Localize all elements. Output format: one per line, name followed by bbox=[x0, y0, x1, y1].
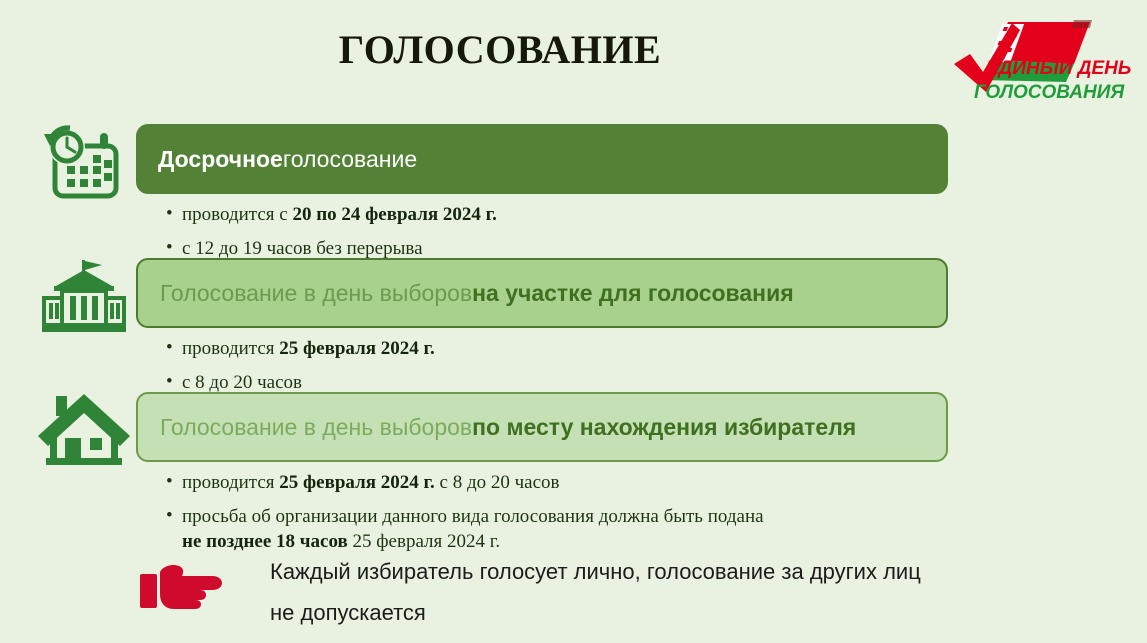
list-item: проводится 25 февраля 2024 г. bbox=[166, 336, 1066, 362]
bar-polling-station: Голосование в день выборов на участке дл… bbox=[136, 258, 948, 328]
bullet-text: проводится bbox=[182, 338, 279, 359]
bullet-text: с 8 до 20 часов bbox=[182, 372, 302, 393]
bullet-text: проводится с bbox=[182, 204, 292, 225]
pointing-hand-icon bbox=[138, 558, 238, 616]
bottom-note-text: Каждый избиратель голосует лично, голосо… bbox=[270, 552, 1070, 633]
bar-home-voting: Голосование в день выборов по месту нахо… bbox=[136, 392, 948, 462]
bullet-bold: 25 февраля 2024 г. bbox=[279, 338, 435, 359]
bar-polling-station-plain: Голосование в день выборов bbox=[160, 280, 472, 306]
edinyy-den-golosovaniya-logo: ЕДИНЫЙ ДЕНЬ ГОЛОСОВАНИЯ bbox=[950, 8, 1140, 108]
list-item: просьба об организации данного вида голо… bbox=[166, 504, 1066, 555]
bullet-text: просьба об организации данного вида голо… bbox=[182, 506, 764, 527]
bullet-tail: с 8 до 20 часов bbox=[435, 472, 560, 493]
house-icon bbox=[38, 392, 134, 470]
bar-early-voting: Досрочное голосование bbox=[136, 124, 948, 194]
bullet-bold: 25 февраля 2024 г. bbox=[279, 472, 435, 493]
bottom-note-line1: Каждый избиратель голосует лично, голосо… bbox=[270, 559, 921, 584]
bar-early-voting-plain: голосование bbox=[283, 146, 417, 172]
list-item: проводится 25 февраля 2024 г. с 8 до 20 … bbox=[166, 470, 1066, 496]
bar-home-voting-bold: по месту нахождения избирателя bbox=[472, 414, 856, 440]
list-item: проводится с 20 по 24 февраля 2024 г. bbox=[166, 202, 1066, 228]
bar-early-voting-bold: Досрочное bbox=[158, 146, 283, 172]
bullet-tail: 25 февраля 2024 г. bbox=[348, 531, 500, 552]
logo-line1: ЕДИНЫЙ ДЕНЬ bbox=[986, 57, 1131, 79]
bottom-note-line2: не допускается bbox=[270, 593, 1070, 634]
bar-home-voting-plain: Голосование в день выборов bbox=[160, 414, 472, 440]
bullets-home-voting: проводится 25 февраля 2024 г. с 8 до 20 … bbox=[166, 470, 1066, 563]
bullet-bold: не позднее 18 часов bbox=[182, 531, 348, 552]
bullet-bold: 20 по 24 февраля 2024 г. bbox=[292, 204, 496, 225]
bar-polling-station-bold: на участке для голосования bbox=[472, 280, 794, 306]
bullet-text: с 12 до 19 часов без перерыва bbox=[182, 238, 423, 259]
government-building-icon bbox=[38, 258, 134, 336]
calendar-clock-refresh-icon bbox=[38, 124, 134, 202]
logo-line2: ГОЛОСОВАНИЯ bbox=[974, 82, 1125, 103]
bottom-note: Каждый избиратель голосует лично, голосо… bbox=[138, 552, 1138, 642]
bullet-text: проводится bbox=[182, 472, 279, 493]
page-title: ГОЛОСОВАНИЕ bbox=[0, 26, 1000, 73]
